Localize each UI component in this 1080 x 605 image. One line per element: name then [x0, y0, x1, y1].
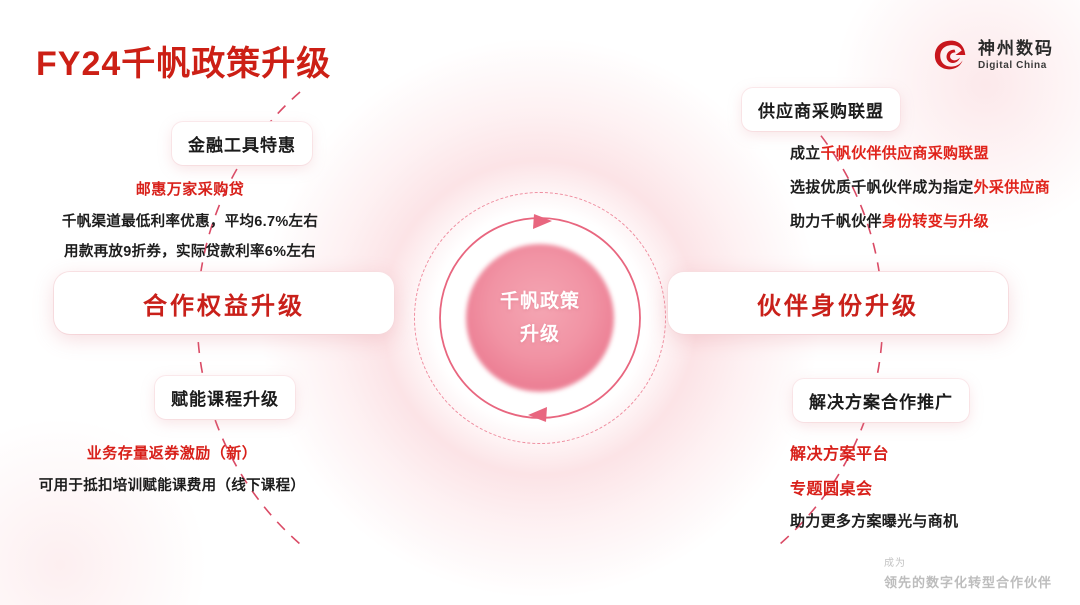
chip-supplier-alliance[interactable]: 供应商采购联盟 — [742, 88, 900, 131]
footer-tagline-top: 成为 — [884, 554, 1052, 569]
clockwise-arrow-top-icon — [533, 214, 552, 229]
clockwise-arrow-bottom-icon — [528, 407, 547, 422]
slide-root: FY24千帆政策升级 神州数码 Digital China 千帆政策 升级 合作… — [0, 0, 1080, 605]
logo-text-en: Digital China — [978, 61, 1054, 71]
course-lead: 业务存量返券激励（新） — [22, 442, 322, 463]
chip-course-upgrade[interactable]: 赋能课程升级 — [155, 376, 295, 419]
chip-finance-tools[interactable]: 金融工具特惠 — [172, 122, 312, 165]
logo-text-cn: 神州数码 — [978, 40, 1054, 57]
footer-tagline-main: 领先的数字化转型合作伙伴 — [884, 572, 1052, 591]
solution-text-block: 解决方案平台 专题圆桌会 助力更多方案曝光与商机 — [790, 440, 958, 531]
solution-lead-1: 解决方案平台 — [790, 440, 958, 464]
swirl-logo-icon — [933, 38, 969, 72]
alliance-line-3: 助力千帆伙伴身份转变与升级 — [790, 210, 1050, 231]
course-line-1: 可用于抵扣培训赋能课费用（线下课程） — [22, 474, 322, 495]
brand-logo: 神州数码 Digital China — [933, 38, 1054, 72]
alliance-line-1-red: 千帆伙伴供应商采购联盟 — [821, 145, 989, 162]
page-title: FY24千帆政策升级 — [36, 36, 331, 85]
finance-lead: 邮惠万家采购贷 — [40, 178, 340, 199]
pill-partner-benefits-upgrade[interactable]: 合作权益升级 — [54, 272, 394, 334]
alliance-line-1: 成立千帆伙伴供应商采购联盟 — [790, 142, 1050, 163]
finance-line-1: 千帆渠道最低利率优惠，平均6.7%左右 — [40, 210, 340, 231]
course-text-block: 业务存量返券激励（新） 可用于抵扣培训赋能课费用（线下课程） — [22, 442, 322, 495]
center-label-line1: 千帆政策 — [455, 285, 625, 318]
alliance-text-block: 成立千帆伙伴供应商采购联盟 选拔优质千帆伙伴成为指定外采供应商 助力千帆伙伴身份… — [790, 142, 1050, 244]
finance-line-2: 用款再放9折券，实际贷款利率6%左右 — [40, 240, 340, 261]
center-label-line2: 升级 — [455, 318, 625, 351]
center-label: 千帆政策 升级 — [455, 285, 625, 352]
finance-text-block: 邮惠万家采购贷 千帆渠道最低利率优惠，平均6.7%左右 用款再放9折券，实际贷款… — [40, 178, 340, 270]
pill-partner-identity-upgrade[interactable]: 伙伴身份升级 — [668, 272, 1008, 334]
solution-line: 助力更多方案曝光与商机 — [790, 510, 958, 531]
alliance-line-2: 选拔优质千帆伙伴成为指定外采供应商 — [790, 176, 1050, 197]
alliance-line-2-red: 外采供应商 — [974, 179, 1051, 196]
chip-solution-promotion[interactable]: 解决方案合作推广 — [793, 379, 969, 422]
alliance-line-3-red: 身份转变与升级 — [882, 213, 989, 230]
alliance-line-1-black: 成立 — [790, 145, 821, 162]
solution-lead-2: 专题圆桌会 — [790, 475, 958, 499]
alliance-line-2-black: 选拔优质千帆伙伴成为指定 — [790, 179, 974, 196]
center-diagram: 千帆政策 升级 — [390, 168, 690, 468]
alliance-line-3-black: 助力千帆伙伴 — [790, 213, 882, 230]
footer-tagline: 成为 领先的数字化转型合作伙伴 — [884, 554, 1052, 591]
logo-text: 神州数码 Digital China — [978, 40, 1054, 71]
